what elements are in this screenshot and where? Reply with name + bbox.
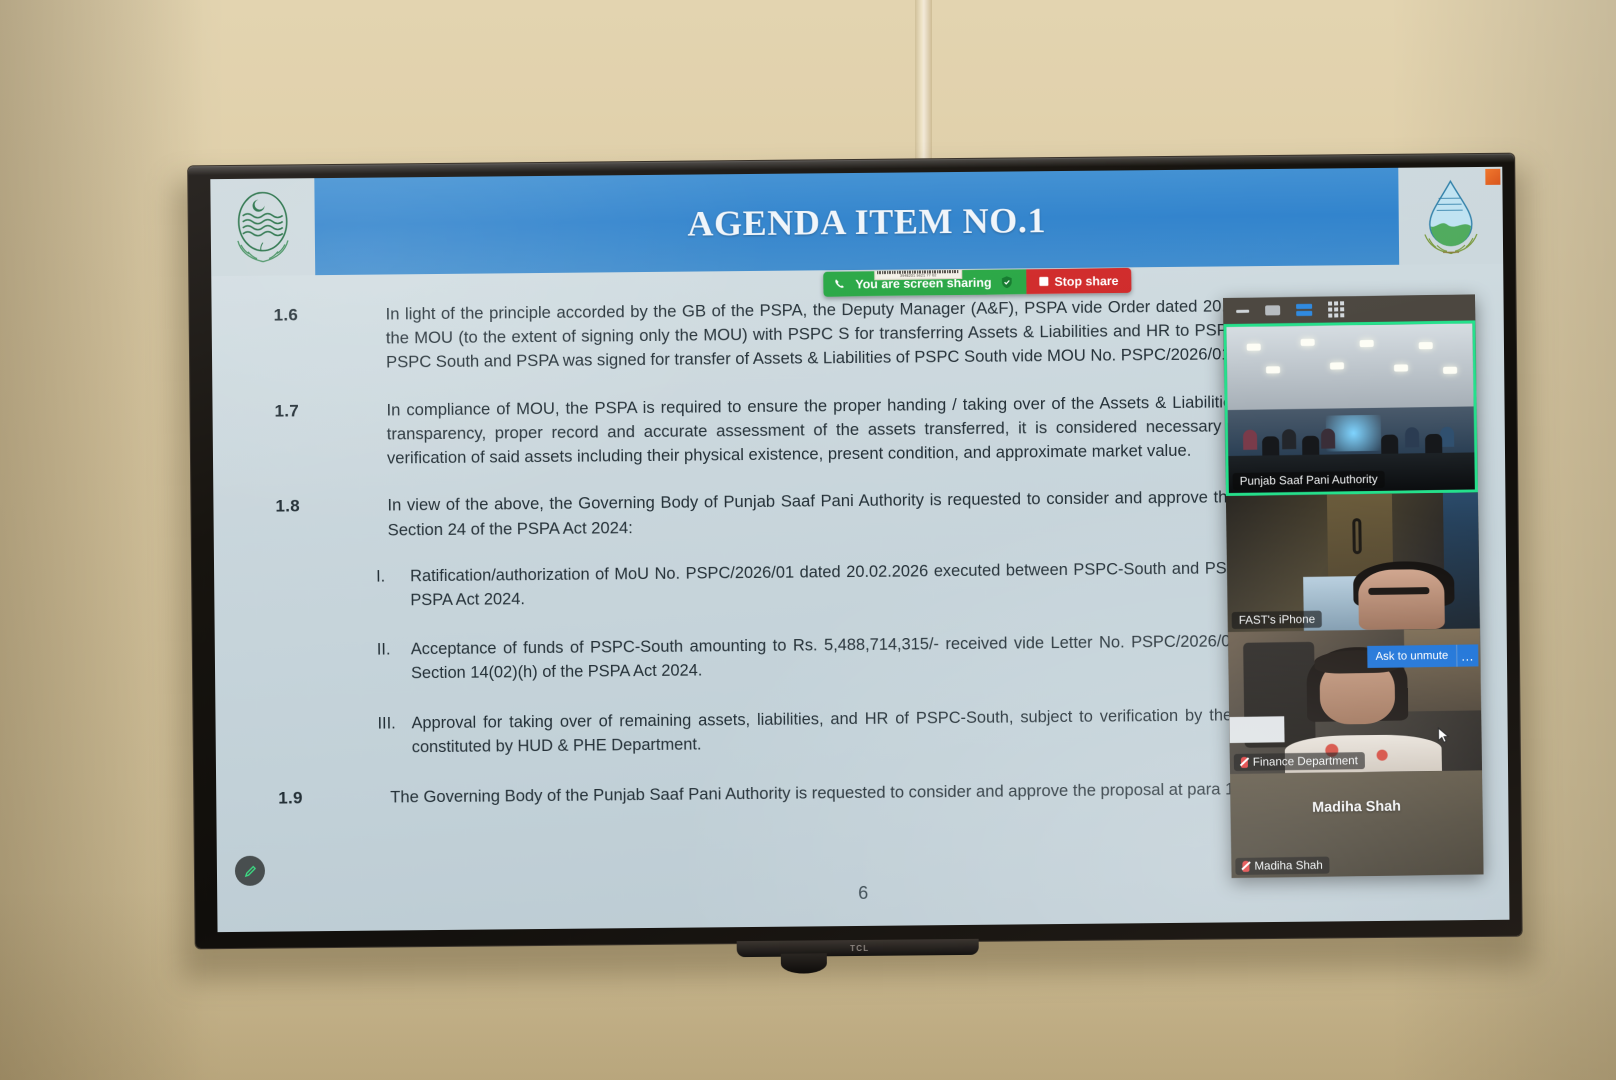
tile-name-text: Finance Department xyxy=(1253,754,1358,769)
zoom-window-controls xyxy=(1223,294,1475,324)
slide-title-container: AGENDA ITEM NO.1 xyxy=(314,168,1399,275)
list-item-numeral: III. xyxy=(377,712,411,760)
video-tile-punjab-saaf-pani-authority[interactable]: Punjab Saaf Pani Authority xyxy=(1223,320,1478,496)
video-tile-finance-department[interactable]: Ask to unmute … Finance Department xyxy=(1228,628,1482,774)
page-title: AGENDA ITEM NO.1 xyxy=(687,199,1046,244)
tv-bezel: AGENDA ITEM NO.1 xyxy=(188,154,1521,949)
paragraph-number: 1.9 xyxy=(278,786,390,812)
list-item-numeral: I. xyxy=(376,565,410,613)
paragraph-number: 1.7 xyxy=(274,398,387,472)
phone-icon xyxy=(833,278,846,291)
paragraph-number: 1.8 xyxy=(275,494,387,544)
stop-square-icon xyxy=(1039,277,1048,286)
stop-share-button[interactable]: Stop share xyxy=(1026,268,1131,294)
tile-context-menu[interactable]: Ask to unmute … xyxy=(1367,644,1478,668)
barcode-label: 3948201 5621 77 02 xyxy=(877,273,959,278)
background-handle xyxy=(1352,519,1362,555)
conference-room-wall: AGENDA ITEM NO.1 xyxy=(0,0,1616,1080)
screen-share-banner: You are screen sharing Stop share 394820… xyxy=(823,268,1131,297)
slide-page-number: 6 xyxy=(217,877,1509,910)
tile-name-label: Finance Department xyxy=(1234,752,1365,771)
mic-muted-icon xyxy=(1242,861,1249,872)
tile-name-label: Punjab Saaf Pani Authority xyxy=(1233,471,1385,490)
zoom-video-panel[interactable]: Punjab Saaf Pani Authority FAST's iPhone xyxy=(1223,294,1484,878)
orange-corner-marker xyxy=(1485,169,1500,185)
participant-glasses xyxy=(1368,587,1429,595)
audio-only-display-name: Madiha Shah xyxy=(1312,799,1401,816)
minimize-icon[interactable] xyxy=(1236,309,1249,312)
background-paper xyxy=(1229,716,1285,742)
gallery-view-icon[interactable] xyxy=(1328,301,1344,317)
mouse-cursor xyxy=(1437,727,1451,745)
background-right-panel xyxy=(1443,492,1480,629)
wall-seam xyxy=(915,0,932,172)
more-options-button[interactable]: … xyxy=(1456,644,1478,666)
participant-face xyxy=(1358,569,1445,630)
slide-header: AGENDA ITEM NO.1 xyxy=(210,167,1503,276)
maximize-icon[interactable] xyxy=(1265,305,1280,315)
punjab-government-emblem xyxy=(210,178,315,276)
tile-name-label: FAST's iPhone xyxy=(1232,611,1323,629)
mic-muted-icon xyxy=(1241,757,1248,768)
tv-screen: AGENDA ITEM NO.1 xyxy=(210,167,1509,932)
tile-name-label: Madiha Shah xyxy=(1235,857,1330,875)
ask-to-unmute-button[interactable]: Ask to unmute xyxy=(1367,645,1456,668)
paragraph-number: 1.6 xyxy=(274,302,387,376)
background-wall-panel xyxy=(1404,628,1481,711)
list-item-numeral: II. xyxy=(377,639,411,687)
tile-name-text: Madiha Shah xyxy=(1254,859,1323,873)
wall-mounted-tv: AGENDA ITEM NO.1 xyxy=(188,154,1522,967)
tv-brand-logo: TCL xyxy=(815,942,905,956)
shield-check-icon xyxy=(1000,275,1013,289)
speaker-view-icon[interactable] xyxy=(1296,304,1312,316)
stop-share-label: Stop share xyxy=(1054,273,1118,288)
annotate-pen-icon[interactable] xyxy=(235,856,265,886)
video-tile-fasts-iphone[interactable]: FAST's iPhone xyxy=(1226,492,1480,632)
video-tile-madiha-shah[interactable]: Madiha Shah Madiha Shah xyxy=(1230,770,1484,878)
